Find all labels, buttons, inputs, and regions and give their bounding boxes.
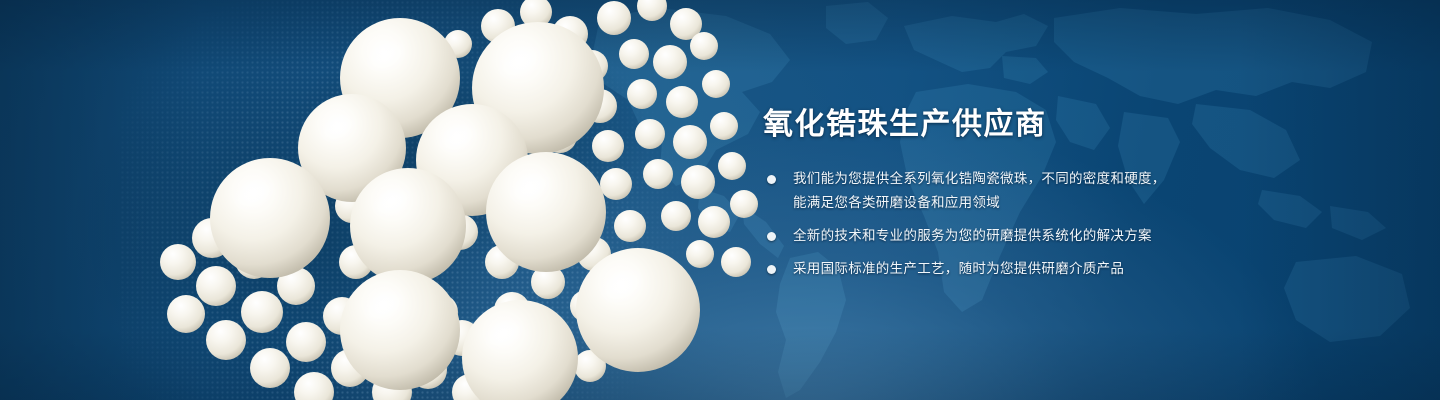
list-item-line: 我们能为您提供全系列氧化锆陶瓷微珠，不同的密度和硬度， [793, 167, 1233, 191]
list-item: 我们能为您提供全系列氧化锆陶瓷微珠，不同的密度和硬度， 能满足您各类研磨设备和应… [763, 167, 1233, 215]
page-title: 氧化锆珠生产供应商 [763, 108, 1233, 141]
list-item-line: 全新的技术和专业的服务为您的研磨提供系统化的解决方案 [793, 224, 1233, 248]
bullet-dot-icon [767, 265, 776, 274]
bullet-dot-icon [767, 175, 776, 184]
banner-copy: 氧化锆珠生产供应商 我们能为您提供全系列氧化锆陶瓷微珠，不同的密度和硬度， 能满… [763, 108, 1233, 281]
feature-list: 我们能为您提供全系列氧化锆陶瓷微珠，不同的密度和硬度， 能满足您各类研磨设备和应… [763, 167, 1233, 281]
list-item: 全新的技术和专业的服务为您的研磨提供系统化的解决方案 [763, 224, 1233, 248]
zirconia-beads-photo [0, 0, 760, 400]
bullet-dot-icon [767, 232, 776, 241]
hero-banner: 氧化锆珠生产供应商 我们能为您提供全系列氧化锆陶瓷微珠，不同的密度和硬度， 能满… [0, 0, 1440, 400]
list-item-line: 能满足您各类研磨设备和应用领域 [793, 191, 1233, 215]
list-item: 采用国际标准的生产工艺，随时为您提供研磨介质产品 [763, 257, 1233, 281]
list-item-line: 采用国际标准的生产工艺，随时为您提供研磨介质产品 [793, 257, 1233, 281]
